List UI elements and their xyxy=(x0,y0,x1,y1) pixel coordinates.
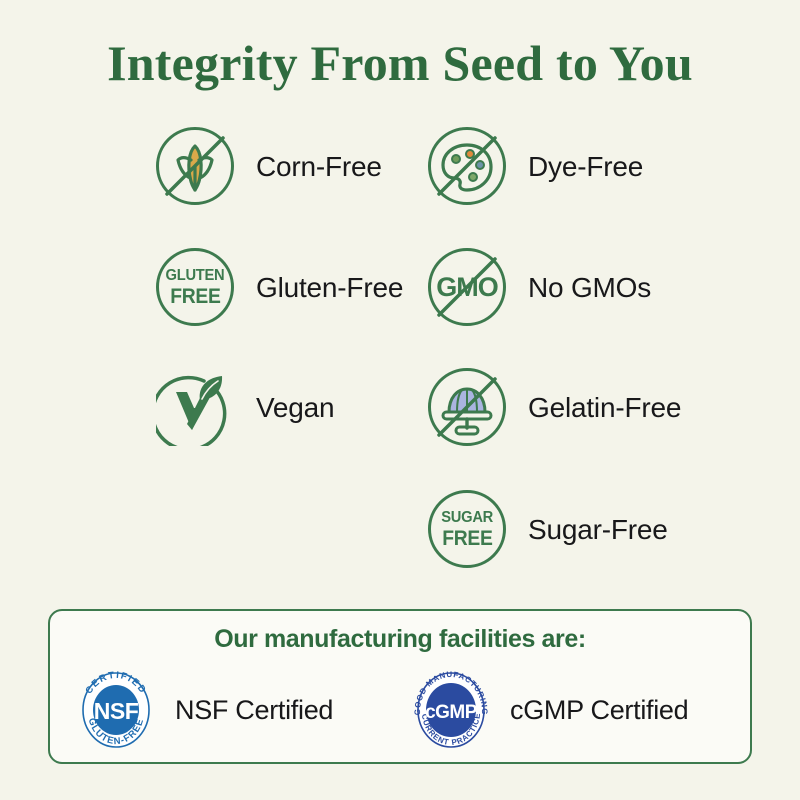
badge-vegan: Vegan xyxy=(152,364,334,452)
gelatin-no-symbol-icon xyxy=(424,364,512,452)
badge-label: Gelatin-Free xyxy=(528,392,681,424)
panel-heading: Our manufacturing facilities are: xyxy=(50,625,750,654)
no-symbol-slash xyxy=(156,127,234,205)
seal-line-1: GLUTEN xyxy=(166,268,225,284)
palette-no-symbol-icon xyxy=(424,123,512,211)
no-symbol-slash xyxy=(428,127,506,205)
seal-text: GLUTEN FREE xyxy=(152,244,238,330)
corn-no-symbol-icon xyxy=(152,123,240,211)
badge-label: Vegan xyxy=(256,392,334,424)
no-symbol-slash xyxy=(428,248,506,326)
badge-label: Dye-Free xyxy=(528,151,643,183)
badge-label: Sugar-Free xyxy=(528,514,668,546)
gluten-free-seal-icon: GLUTEN FREE xyxy=(152,244,240,332)
seal-line-1: SUGAR xyxy=(441,510,493,526)
certification-cgmp: GOOD MANUFACTURING CURRENT PRACTICE cGMP… xyxy=(410,666,688,754)
badge-corn-free: Corn-Free xyxy=(152,123,382,211)
certification-nsf: CERTIFIED GLUTEN-FREE NSF NSF Certified xyxy=(75,666,333,754)
badge-gluten-free: GLUTEN FREE Gluten-Free xyxy=(152,244,403,332)
certification-label: NSF Certified xyxy=(175,695,333,726)
infographic-page: Integrity From Seed to You xyxy=(0,0,800,800)
badge-label: Gluten-Free xyxy=(256,272,403,304)
nsf-certified-gluten-free-seal-icon: CERTIFIED GLUTEN-FREE NSF xyxy=(75,666,157,754)
certification-list: CERTIFIED GLUTEN-FREE NSF NSF Certified xyxy=(50,666,750,761)
seal-line-2: FREE xyxy=(170,286,220,307)
gmo-no-symbol-icon: GMO xyxy=(424,244,512,332)
vegan-glyph xyxy=(156,368,234,446)
cgmp-certified-seal-icon: GOOD MANUFACTURING CURRENT PRACTICE cGMP xyxy=(410,666,492,754)
badge-dye-free: Dye-Free xyxy=(424,123,643,211)
sugar-free-seal-icon: SUGAR FREE xyxy=(424,486,512,574)
badge-no-gmos: GMO No GMOs xyxy=(424,244,651,332)
badge-grid: Corn-Free Dye-Free xyxy=(0,120,800,590)
badge-label: No GMOs xyxy=(528,272,651,304)
svg-text:NSF: NSF xyxy=(94,698,139,724)
seal-text: SUGAR FREE xyxy=(424,486,510,572)
no-symbol-slash xyxy=(428,368,506,446)
badge-label: Corn-Free xyxy=(256,151,382,183)
badge-sugar-free: SUGAR FREE Sugar-Free xyxy=(424,486,668,574)
certification-label: cGMP Certified xyxy=(510,695,688,726)
badge-gelatin-free: Gelatin-Free xyxy=(424,364,681,452)
vegan-leaf-v-icon xyxy=(152,364,240,452)
seal-line-2: FREE xyxy=(442,528,492,549)
page-title: Integrity From Seed to You xyxy=(0,34,800,92)
svg-text:cGMP: cGMP xyxy=(425,702,478,723)
manufacturing-certifications-panel: Our manufacturing facilities are: CERTIF… xyxy=(48,609,752,764)
